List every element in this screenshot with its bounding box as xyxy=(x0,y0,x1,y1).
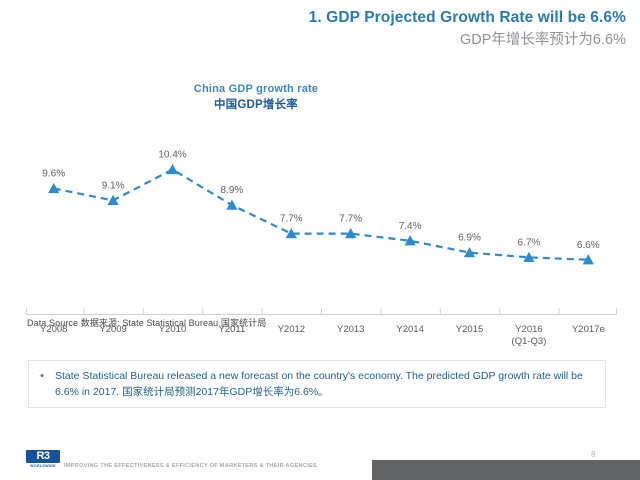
line-chart-svg: 9.6%9.1%10.4%8.9%7.7%7.7%7.4%6.9%6.7%6.6… xyxy=(24,126,618,322)
logo-subtext: WORLDWIDE xyxy=(26,464,60,469)
chart-title-group: China GDP growth rate 中国GDP增长率 xyxy=(0,82,618,113)
chart-data-label: 7.7% xyxy=(339,214,362,225)
page-number: 8 xyxy=(591,450,595,459)
page-subtitle: GDP年增长率预计为6.6% xyxy=(309,29,626,51)
chart-x-label: Y2015 xyxy=(440,321,499,351)
page-title: 1. GDP Projected Growth Rate will be 6.6… xyxy=(309,8,626,28)
insight-callout-box: • State Statistical Bureau released a ne… xyxy=(28,360,606,408)
chart-data-label: 10.4% xyxy=(158,150,186,161)
chart-data-label: 6.7% xyxy=(518,237,541,248)
logo-mark: R3 xyxy=(26,450,60,463)
chart-data-point-marker xyxy=(108,195,119,205)
insight-text: State Statistical Bureau released a new … xyxy=(55,368,605,400)
chart-x-label: Y2017e xyxy=(559,321,618,351)
chart-data-point-marker xyxy=(226,200,237,210)
chart-title-chinese: 中国GDP增长率 xyxy=(0,97,618,113)
chart-data-point-marker xyxy=(167,164,178,174)
chart-series-line xyxy=(54,170,589,260)
chart-data-label: 6.6% xyxy=(577,240,600,251)
r3-logo: R3 WORLDWIDE xyxy=(26,450,60,468)
bullet-icon: • xyxy=(29,361,55,382)
chart-data-label: 6.9% xyxy=(458,233,481,244)
chart-x-label: Y2013 xyxy=(321,321,380,351)
chart-title-english: China GDP growth rate xyxy=(0,82,618,97)
chart-data-label: 9.1% xyxy=(102,180,125,191)
chart-data-label: 8.9% xyxy=(221,185,244,196)
chart-plot-area: 9.6%9.1%10.4%8.9%7.7%7.7%7.4%6.9%6.7%6.6… xyxy=(24,126,618,322)
chart-container: China GDP growth rate 中国GDP增长率 9.6%9.1%1… xyxy=(24,82,618,332)
chart-x-sublabel: (Q1-Q3) xyxy=(499,336,558,348)
chart-x-label: Y2016(Q1-Q3) xyxy=(499,321,558,351)
chart-x-label: Y2014 xyxy=(380,321,439,351)
chart-data-source: Data Source 数据来源: State Statistical Bure… xyxy=(27,316,266,329)
chart-x-label: Y2012 xyxy=(262,321,321,351)
chart-data-label: 7.4% xyxy=(399,221,422,232)
footer-tagline: IMPROVING THE EFFECTIVENESS & EFFICIENCY… xyxy=(64,463,317,469)
footer-bar xyxy=(372,460,640,480)
chart-data-label: 7.7% xyxy=(280,214,303,225)
chart-data-label: 9.6% xyxy=(42,169,65,180)
chart-data-point-marker xyxy=(48,183,59,193)
slide-header: 1. GDP Projected Growth Rate will be 6.6… xyxy=(309,8,626,51)
slide-canvas: 1. GDP Projected Growth Rate will be 6.6… xyxy=(0,0,640,480)
